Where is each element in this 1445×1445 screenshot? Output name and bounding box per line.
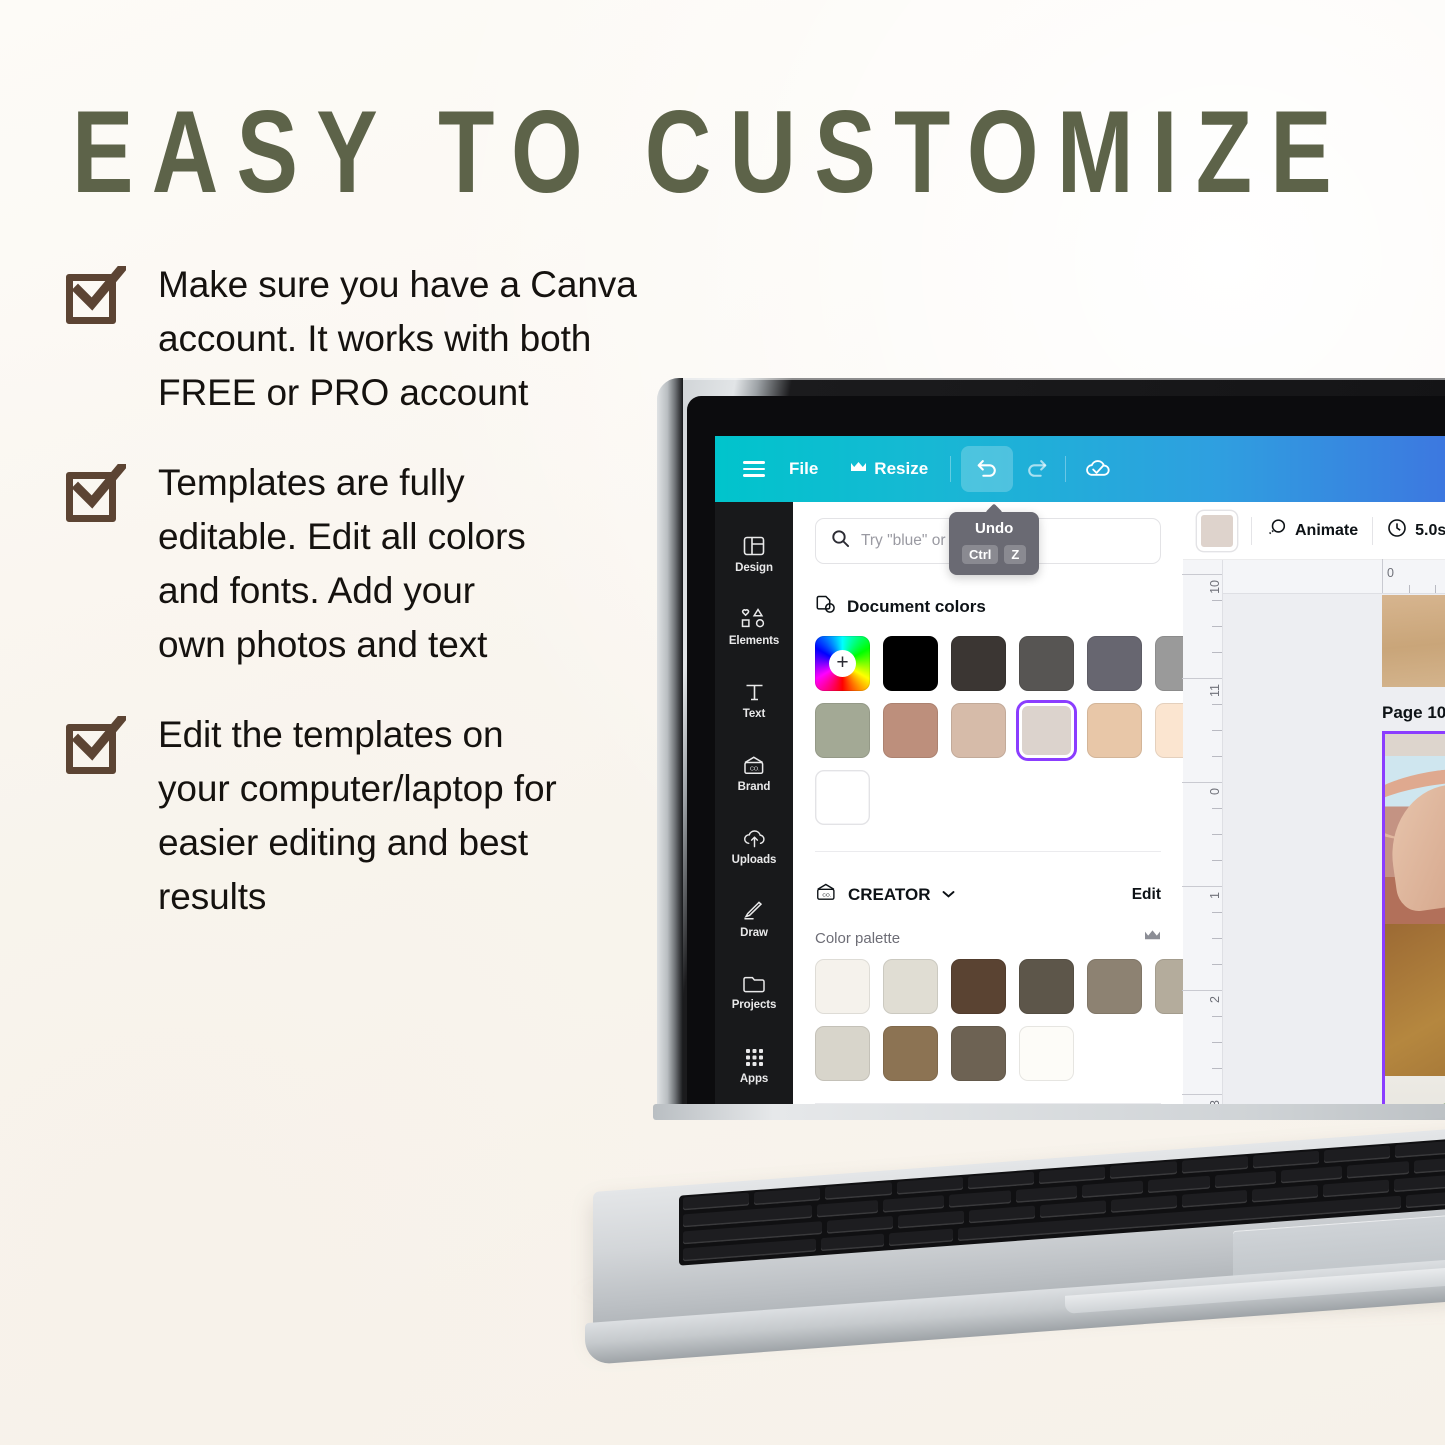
laptop-bezel: File Resize [687, 396, 1445, 1118]
divider [950, 456, 951, 482]
undo-tooltip: Undo Ctrl Z [949, 512, 1039, 575]
sidebar-item-label: Draw [740, 927, 768, 939]
color-swatch[interactable] [1087, 959, 1142, 1014]
ruler-vertical[interactable]: 10 11 0 1 [1183, 560, 1223, 1118]
selected-color-button[interactable] [1197, 511, 1237, 551]
color-swatch[interactable] [951, 636, 1006, 691]
sidebar-item-label: Elements [729, 635, 779, 647]
selected-page-frame[interactable] [1382, 731, 1445, 1118]
svg-text:CO.: CO. [822, 893, 831, 899]
color-swatch[interactable] [883, 703, 938, 758]
ruler-tick-label: 2 [1208, 996, 1222, 1003]
page-title-row[interactable]: Page 10 - Add page title [1382, 703, 1445, 723]
ruler-tick-label: 0 [1208, 788, 1222, 795]
file-menu-button[interactable]: File [773, 459, 834, 479]
color-palette-label-row: Color palette [815, 929, 1161, 947]
brand-kit-icon: CO. [815, 882, 837, 907]
checkbox-checked-icon [66, 270, 122, 326]
page-number-label: Page 10 - [1382, 703, 1445, 722]
document-colors-header: Document colors [815, 594, 1161, 620]
crown-icon [850, 459, 867, 479]
color-swatch[interactable] [883, 636, 938, 691]
divider [1065, 456, 1066, 482]
color-swatch[interactable] [883, 1026, 938, 1081]
color-swatch[interactable] [1155, 703, 1183, 758]
sidebar-item-draw[interactable]: Draw [715, 883, 793, 956]
canva-sidebar: Design Elements [715, 502, 793, 1118]
file-menu-label: File [789, 459, 818, 479]
sidebar-item-uploads[interactable]: Uploads [715, 810, 793, 883]
list-item-label: Templates are fully editable. Edit all c… [122, 456, 542, 672]
animate-circles-icon [1266, 518, 1287, 544]
pen-icon [742, 901, 766, 922]
clock-icon [1387, 518, 1407, 543]
add-color-button[interactable]: + [815, 636, 870, 691]
page-title: EASY TO CUSTOMIZE [72, 92, 1339, 215]
canva-top-toolbar: File Resize [715, 436, 1445, 502]
color-swatch[interactable] [951, 1026, 1006, 1081]
text-t-icon [744, 682, 765, 703]
tooltip-title: Undo [962, 521, 1026, 538]
color-swatch[interactable] [1155, 959, 1183, 1014]
previous-page-preview [1382, 595, 1445, 687]
color-panel: Try "blue" or "#00c4cc" Document colors [793, 502, 1183, 1118]
list-item: Templates are fully editable. Edit all c… [66, 456, 666, 672]
shapes-icon [741, 608, 767, 630]
color-swatch[interactable] [1019, 959, 1074, 1014]
color-swatch[interactable] [815, 959, 870, 1014]
laptop-mockup: File Resize [645, 378, 1445, 1308]
photo-typewriter[interactable] [1385, 924, 1445, 1076]
sidebar-item-projects[interactable]: Projects [715, 956, 793, 1029]
laptop-base [645, 1104, 1445, 1300]
cloud-upload-icon [742, 828, 767, 849]
sidebar-item-label: Uploads [732, 854, 777, 866]
document-colors-swatches: + [815, 636, 1161, 825]
brand-kit-icon: CO. [742, 755, 766, 776]
brand-kit-header: CO. CREATOR Edit [815, 882, 1161, 907]
sidebar-item-text[interactable]: Text [715, 664, 793, 737]
document-colors-icon [815, 594, 836, 620]
crown-icon [1144, 929, 1161, 947]
checkbox-checked-icon [66, 720, 122, 776]
ruler-tick-label: 11 [1208, 684, 1222, 697]
layout-icon [743, 535, 765, 557]
list-item-label: Make sure you have a Canva account. It w… [122, 258, 666, 420]
animate-label: Animate [1295, 522, 1358, 540]
list-item: Edit the templates on your computer/lapt… [66, 708, 666, 924]
tooltip-key: Ctrl [962, 545, 998, 564]
laptop-hinge [653, 1104, 1445, 1120]
color-palette-label: Color palette [815, 930, 900, 947]
canvas-rulers: 0 1 2 10 [1183, 560, 1445, 1118]
color-swatch[interactable] [1019, 1026, 1074, 1081]
animate-button[interactable]: Animate [1266, 518, 1358, 544]
color-swatch[interactable] [1087, 636, 1142, 691]
design-canvas[interactable]: Page 10 - Add page title [1224, 595, 1445, 1118]
sidebar-item-brand[interactable]: CO. Brand [715, 737, 793, 810]
search-icon [831, 529, 850, 553]
list-item: Make sure you have a Canva account. It w… [66, 258, 666, 420]
laptop-lid: File Resize [657, 378, 1445, 1118]
duration-button[interactable]: 5.0s [1387, 518, 1445, 543]
document-colors-title: Document colors [847, 597, 986, 617]
canvas-region: Animate 5.0s Position [1183, 502, 1445, 1118]
grid-dots-icon [744, 1047, 765, 1068]
sidebar-item-design[interactable]: Design [715, 518, 793, 591]
sidebar-item-label: Projects [732, 999, 777, 1011]
context-toolbar: Animate 5.0s Position [1183, 502, 1445, 560]
resize-label: Resize [874, 459, 928, 479]
sidebar-item-label: Brand [738, 781, 771, 793]
page-header-band [1385, 734, 1445, 756]
color-swatch[interactable] [815, 770, 870, 825]
color-swatch[interactable] [951, 703, 1006, 758]
cloud-check-icon[interactable] [1074, 446, 1120, 492]
chevron-down-icon[interactable] [942, 886, 955, 904]
checkbox-checked-icon [66, 468, 122, 524]
list-item-label: Edit the templates on your computer/lapt… [122, 708, 572, 924]
checklist: Make sure you have a Canva account. It w… [66, 258, 666, 924]
brand-palette-swatches [815, 959, 1161, 1081]
tooltip-key: Z [1004, 545, 1026, 564]
redo-arrow-icon[interactable] [1013, 446, 1059, 492]
color-swatch-selected[interactable] [1019, 703, 1074, 758]
ruler-horizontal[interactable]: 0 1 2 [1223, 560, 1445, 594]
sidebar-item-apps[interactable]: Apps [715, 1029, 793, 1102]
color-swatch[interactable] [815, 703, 870, 758]
divider [815, 851, 1161, 852]
photo-hammock-terrace[interactable] [1385, 756, 1445, 924]
ruler-tick-label: 1 [1208, 892, 1222, 899]
color-swatch[interactable] [883, 959, 938, 1014]
ruler-tick-label: 10 [1208, 580, 1222, 594]
poster-canvas: EASY TO CUSTOMIZE Make sure you have a C… [0, 0, 1445, 1445]
sidebar-item-label: Design [735, 562, 773, 574]
color-swatch[interactable] [1155, 636, 1183, 691]
sidebar-item-elements[interactable]: Elements [715, 591, 793, 664]
sidebar-item-label: Apps [740, 1073, 768, 1085]
canva-editor-screen: File Resize [715, 436, 1445, 1118]
resize-button[interactable]: Resize [834, 459, 944, 479]
sidebar-item-label: Text [743, 708, 765, 720]
duration-label: 5.0s [1415, 522, 1445, 540]
undo-arrow-icon[interactable] [961, 446, 1013, 492]
folder-icon [742, 974, 766, 994]
svg-text:CO.: CO. [750, 766, 760, 772]
brand-kit-name: CREATOR [848, 885, 931, 905]
color-swatch[interactable] [951, 959, 1006, 1014]
color-swatch[interactable] [815, 1026, 870, 1081]
hamburger-icon[interactable] [735, 450, 773, 488]
color-swatch[interactable] [1019, 636, 1074, 691]
ruler-tick-label: 0 [1387, 566, 1394, 580]
plus-icon: + [829, 650, 856, 677]
brand-kit-edit-button[interactable]: Edit [1132, 886, 1161, 904]
color-swatch[interactable] [1087, 703, 1142, 758]
